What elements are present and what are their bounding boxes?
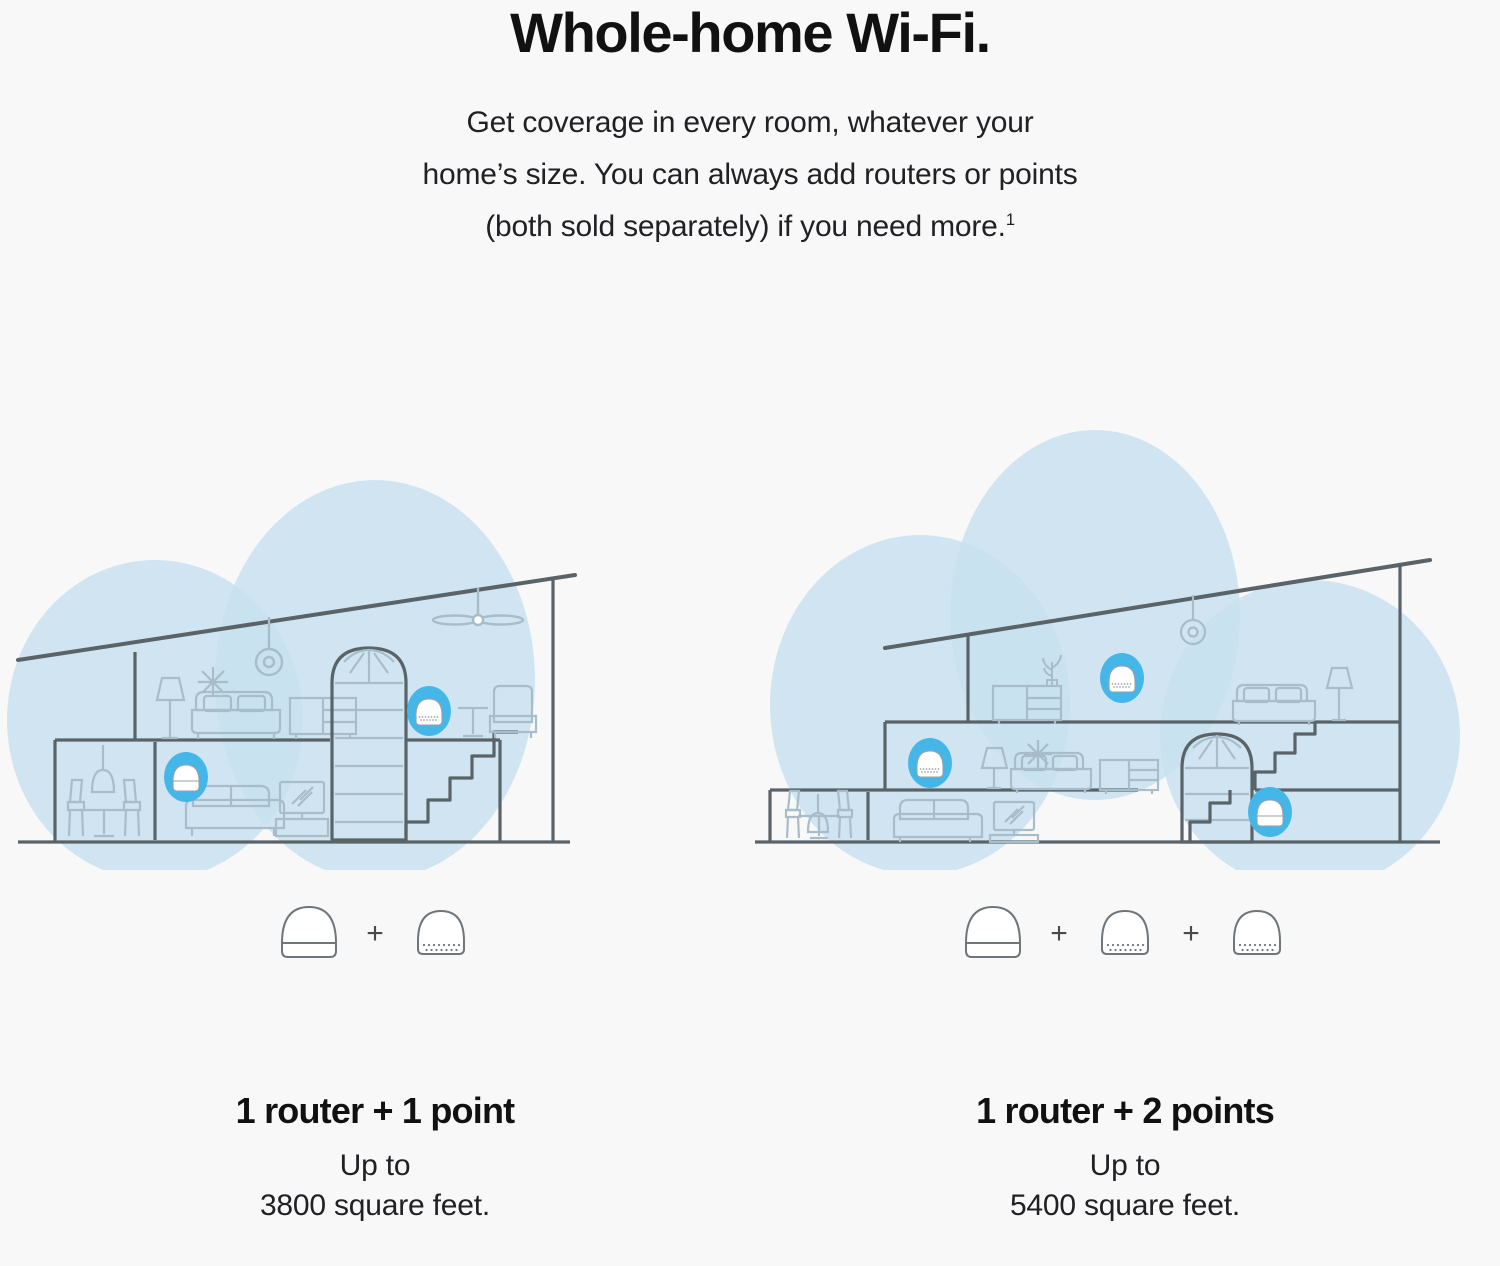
router-icon	[960, 901, 1026, 963]
description-line-2: home’s size. You can always add routers …	[422, 158, 1077, 191]
wifi-point-icon	[1224, 901, 1290, 963]
plus-icon: +	[1026, 919, 1092, 949]
section-description: Get coverage in every room, whatever you…	[260, 97, 1240, 253]
caption-right: 1 router + 2 points Up to 5400 square fe…	[750, 1090, 1500, 1226]
device-badge-router	[164, 752, 208, 802]
description-line-3: (both sold separately) if you need more.	[485, 210, 1006, 243]
page-title: Whole-home Wi-Fi.	[0, 4, 1500, 63]
coverage-blobs	[770, 430, 1460, 870]
dining-chair-left-icon	[786, 791, 800, 838]
device-badge-router-ground	[1248, 787, 1292, 837]
coverage-comparison: +	[0, 430, 1500, 1266]
router-icon	[276, 901, 342, 963]
caption-subtitle: Up to 5400 square feet.	[750, 1146, 1500, 1226]
description-line-1: Get coverage in every room, whatever you…	[466, 106, 1033, 139]
caption-line-2: 5400 square feet.	[750, 1186, 1500, 1226]
caption-title: 1 router + 1 point	[0, 1090, 750, 1132]
caption-subtitle: Up to 3800 square feet.	[0, 1146, 750, 1226]
coverage-option-one-router-one-point: +	[0, 430, 750, 1266]
device-badge-point-top	[1100, 653, 1144, 703]
section-header: Whole-home Wi-Fi. Get coverage in every …	[0, 0, 1500, 252]
caption-title: 1 router + 2 points	[750, 1090, 1500, 1132]
device-badge-point	[407, 686, 451, 736]
plus-icon: +	[1158, 919, 1224, 949]
whole-home-wifi-section: Whole-home Wi-Fi. Get coverage in every …	[0, 0, 1500, 1266]
caption-line-1: Up to	[750, 1146, 1500, 1186]
caption-left: 1 router + 1 point Up to 3800 square fee…	[0, 1090, 750, 1226]
single-story-home-coverage-illustration	[0, 430, 750, 870]
coverage-option-one-router-two-points: +	[750, 430, 1500, 1266]
wifi-point-icon	[408, 901, 474, 963]
device-lineup-left: +	[0, 892, 750, 972]
footnote-marker: 1	[1006, 211, 1015, 229]
two-story-home-coverage-illustration	[750, 430, 1500, 870]
device-badge-point-middle	[908, 738, 952, 788]
caption-line-2: 3800 square feet.	[0, 1186, 750, 1226]
plus-icon: +	[342, 919, 408, 949]
wifi-point-icon	[1092, 901, 1158, 963]
caption-line-1: Up to	[0, 1146, 750, 1186]
device-lineup-right: +	[750, 892, 1500, 972]
